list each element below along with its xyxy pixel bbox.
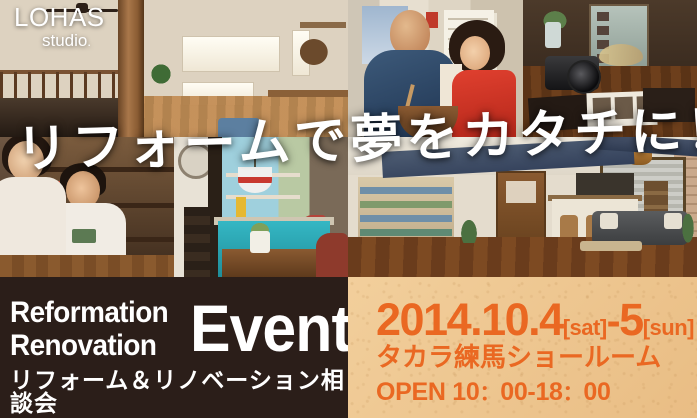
wall-tools bbox=[300, 22, 346, 72]
event-title-japanese: リフォーム＆リノベーション相談会 bbox=[10, 370, 348, 416]
coffee-table bbox=[580, 241, 642, 251]
event-dow-end: [sun] bbox=[643, 315, 694, 340]
open-middle: 00-18 bbox=[500, 378, 562, 406]
vase bbox=[250, 231, 270, 253]
event-title-line1: Reformation bbox=[10, 298, 168, 328]
vase bbox=[545, 22, 561, 48]
plant bbox=[678, 203, 697, 245]
camera-strap bbox=[599, 44, 643, 66]
cushion bbox=[600, 213, 618, 229]
event-venue: タカラ練馬ショールーム bbox=[376, 345, 661, 371]
kitchen-item bbox=[236, 197, 246, 217]
open-colon-2: ： bbox=[563, 381, 584, 405]
camera-lens bbox=[567, 60, 601, 94]
plant bbox=[150, 56, 172, 86]
shirt-print bbox=[72, 229, 96, 243]
wooden-door bbox=[496, 171, 546, 247]
work-counter bbox=[0, 255, 174, 277]
woman-face bbox=[460, 36, 490, 70]
event-date-start: 2014.10.4 bbox=[376, 294, 563, 345]
logo-sub-text: studio bbox=[42, 31, 87, 50]
open-colon-1: ： bbox=[480, 381, 501, 405]
logo-main-text: LOHAS bbox=[14, 4, 105, 30]
chair bbox=[316, 233, 348, 277]
brand-logo: LOHAS studio. bbox=[14, 4, 105, 49]
event-title-big: Event bbox=[190, 295, 351, 361]
plant bbox=[456, 211, 482, 243]
open-label: OPEN 10 bbox=[376, 378, 480, 406]
desk bbox=[268, 90, 348, 97]
event-details-panel: 2014.10.4[sat]-5[sun] タカラ練馬ショールーム OPEN 1… bbox=[348, 277, 697, 418]
window bbox=[182, 36, 280, 72]
event-dow-start: [sat] bbox=[563, 315, 607, 340]
storage-rack bbox=[358, 177, 454, 243]
bottom-info-bar: Reformation Renovation Event リフォーム＆リノベーシ… bbox=[0, 277, 697, 418]
cd-rack bbox=[184, 207, 210, 277]
event-title-panel: Reformation Renovation Event リフォーム＆リノベーシ… bbox=[0, 277, 348, 418]
event-date-end: 5 bbox=[619, 294, 643, 345]
event-date-dash: - bbox=[607, 297, 620, 344]
open-end: 00 bbox=[583, 378, 610, 406]
event-title-line2: Renovation bbox=[10, 331, 156, 361]
event-date: 2014.10.4[sat]-5[sun] bbox=[376, 297, 694, 342]
logo-sub-wrap: studio. bbox=[42, 32, 105, 49]
event-open-hours: OPEN 10：00-18：00 bbox=[376, 380, 611, 405]
event-poster: LOHAS studio. リフォームで夢をカタチに！ Reformation … bbox=[0, 0, 697, 418]
logo-dot: . bbox=[87, 34, 91, 49]
